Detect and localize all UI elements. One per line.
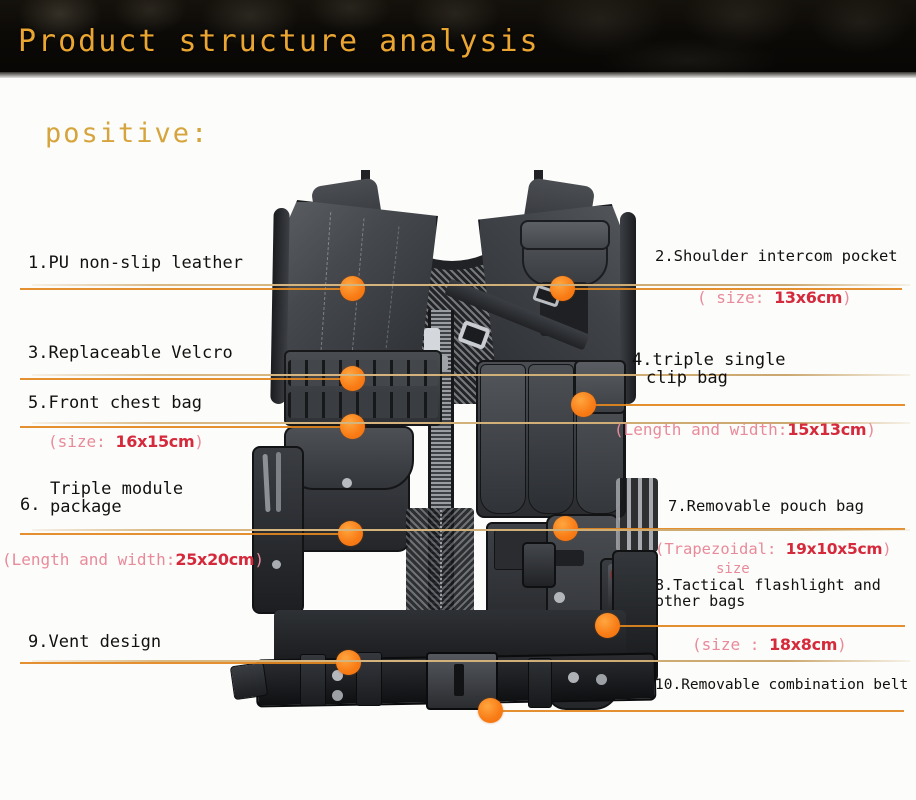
callout-note-7-second-line: size [716,561,750,577]
callout-label-10: 10.Removable combination belt [655,677,908,693]
leader-line-4 [583,404,905,406]
callout-label-6: 6. Triple module package [20,481,183,517]
callout-note-6: (Length and width:25x20cm) [2,550,264,569]
callout-note-7: (Trapezoidal: 19x10x5cm) [655,540,892,558]
leader-line-5 [20,426,352,428]
callout-text-4-a: triple single [652,350,785,370]
callout-label-5: 5.Front chest bag [28,393,202,413]
belt-snap-2 [332,690,343,701]
callout-text-1: PU non-slip leather [48,253,242,273]
triple-module-snap [272,560,281,569]
callout-text-3: Replaceable Velcro [48,343,232,363]
callout-label-9: 9.Vent design [28,632,161,652]
callout-note-5-suffix: ) [194,432,204,451]
callout-label-7: 7.Removable pouch bag [668,497,864,515]
callout-text-7: Removable pouch bag [687,497,864,515]
callout-text-4-line2: clip bag [646,370,786,388]
triple-module-antenna-2 [276,452,281,512]
velcro-loop-row-2 [288,392,438,418]
belt-snap-4 [596,674,607,685]
callout-dot-5[interactable] [340,414,365,439]
callout-underline-9 [32,660,910,662]
callout-note-8: (size : 18x8cm) [692,635,847,654]
callout-dot-1[interactable] [340,276,365,301]
holster-quick-buckle [522,542,556,588]
callout-text-2: Shoulder intercom pocket [674,247,898,265]
callout-dot-6[interactable] [338,521,363,546]
tactical-vest-illustration [228,178,680,738]
front-chest-bag-snap [342,478,352,488]
callout-dot-2[interactable] [550,276,575,301]
callout-note-5: (size: 16x15cm) [48,432,204,451]
belt-buckle-slot [454,664,464,696]
leader-line-1 [20,288,352,290]
page-title: Product structure analysis [18,24,540,59]
callout-label-1: 1.PU non-slip leather [28,253,243,273]
callout-text-6-line2: package [50,499,183,517]
callout-dot-8[interactable] [595,613,620,638]
leader-line-3 [20,378,352,380]
holster-snap-1 [554,592,565,603]
callout-note-8-prefix: (size : [692,635,769,654]
page-header-banner: Product structure analysis [0,0,916,78]
callout-label-2: 2.Shoulder intercom pocket [655,247,898,265]
callout-note-8-value: 18x8cm [769,635,837,654]
callout-note-7-prefix: (Trapezoidal: [655,540,786,558]
callout-label-4: 4.triple single clip bag [632,352,786,388]
callout-note-4: (Length and width:15x13cm) [614,420,876,439]
callout-note-6-value: 25x20cm [175,550,254,569]
callout-note-7-suffix: ) [882,540,891,558]
side-elastic-bands [616,478,658,552]
leader-line-8 [607,625,905,627]
callout-note-4-suffix: ) [866,420,876,439]
callout-text-8-line2: other bags [655,594,881,610]
callout-note-7-value: 19x10x5cm [786,540,883,558]
callout-text-5: Front chest bag [48,393,202,413]
callout-note-6-prefix: (Length and width: [2,550,175,569]
callout-note-2-prefix: ( size: [697,288,774,307]
header-bottom-edge [0,72,916,78]
belt-snap-3 [568,672,579,683]
belt-end-tab [230,662,268,700]
callout-note-2: ( size: 13x6cm) [697,288,852,307]
callout-note-8-suffix: ) [837,635,847,654]
callout-number-5: 5. [28,393,48,413]
callout-number-9: 9. [28,632,48,652]
callout-label-3: 3.Replaceable Velcro [28,343,233,363]
callout-note-5-value: 16x15cm [115,432,194,451]
callout-note-5-prefix: (size: [48,432,115,451]
callout-number-3: 3. [28,343,48,363]
shoulder-intercom-pocket-flap [520,220,610,250]
callout-text-9: Vent design [48,632,161,652]
callout-dot-10[interactable] [478,698,503,723]
callout-underline-6 [32,529,910,531]
callout-number-2: 2. [655,247,674,265]
callout-number-4: 4. [632,350,652,370]
callout-number-7: 7. [668,497,687,515]
callout-dot-3[interactable] [340,366,365,391]
callout-number-1: 1. [28,253,48,273]
callout-note-2-value: 13x6cm [774,288,842,307]
leader-line-9 [20,662,348,664]
callout-underline-1 [32,284,910,286]
callout-dot-4[interactable] [571,392,596,417]
leader-line-10 [490,710,904,712]
product-structure-page: Product structure analysis positive: [0,0,916,800]
belt-keeper-3 [528,658,552,708]
callout-text-10: Removable combination belt [681,677,908,693]
callout-label-8: 8.Tactical flashlight and other bags [655,578,881,610]
callout-number-6: 6. [20,497,40,515]
leader-line-6 [20,533,350,535]
mag-pouch-1 [480,364,526,514]
callout-note-4-prefix: (Length and width: [614,420,787,439]
callout-number-10: 10. [655,677,681,693]
callout-note-6-suffix: ) [254,550,264,569]
callout-dot-9[interactable] [336,650,361,675]
callout-note-2-suffix: ) [842,288,852,307]
section-label-positive: positive: [45,118,209,149]
mag-pouch-2 [528,364,574,514]
callout-note-4-value: 15x13cm [787,420,866,439]
